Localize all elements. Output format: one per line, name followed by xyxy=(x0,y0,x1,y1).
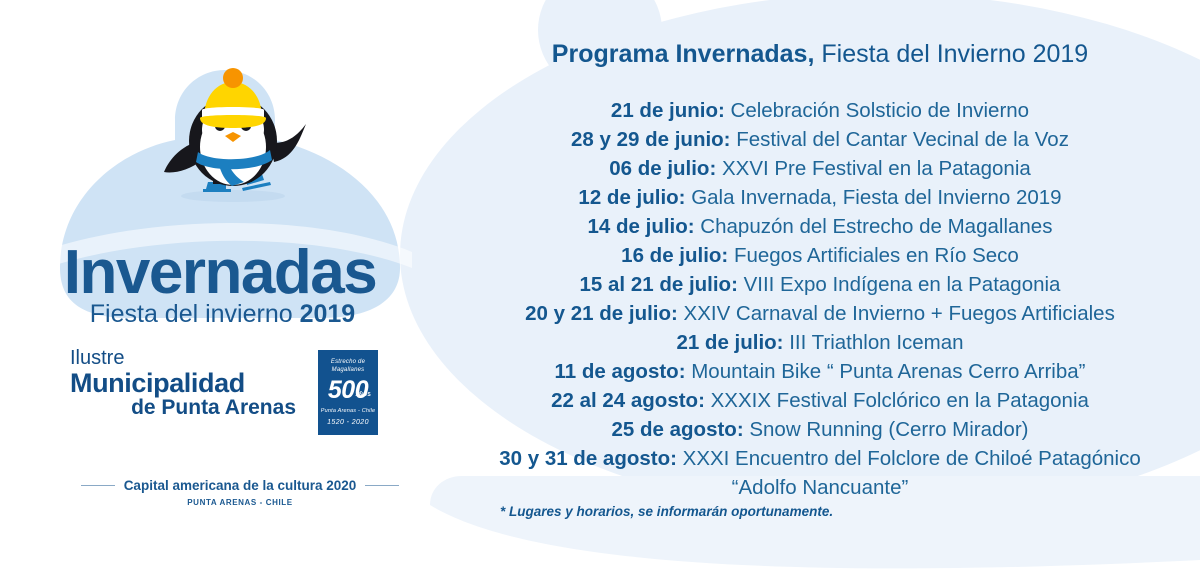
capital-row: Capital americana de la cultura 2020 xyxy=(95,478,385,493)
program-item: 14 de julio: Chapuzón del Estrecho de Ma… xyxy=(470,212,1170,241)
badge-number: 500 xyxy=(328,376,368,404)
brand-subtitle-year: 2019 xyxy=(300,300,356,328)
program-item-date: 06 de julio: xyxy=(609,157,716,180)
program-item: 15 al 21 de julio: VIII Expo Indígena en… xyxy=(470,270,1170,299)
program-item: 12 de julio: Gala Invernada, Fiesta del … xyxy=(470,183,1170,212)
penguin-skate-left-blade xyxy=(203,189,231,192)
program-item-event: Mountain Bike “ Punta Arenas Cerro Arrib… xyxy=(686,360,1086,383)
capital-cultura-block: Capital americana de la cultura 2020 PUN… xyxy=(95,478,385,507)
penguin-icon xyxy=(150,68,315,218)
program-item-event: Snow Running (Cerro Mirador) xyxy=(744,418,1029,441)
brand-logo-block: Invernadas Fiesta del invierno 2019 xyxy=(0,40,470,340)
program-title-rest: Fiesta del Invierno 2019 xyxy=(814,40,1088,68)
penguin-pompom xyxy=(223,68,243,88)
program-item: 21 de junio: Celebración Solsticio de In… xyxy=(470,96,1170,125)
program-item: 25 de agosto: Snow Running (Cerro Mirado… xyxy=(470,415,1170,444)
program-item-event: III Triathlon Iceman xyxy=(784,331,964,354)
capital-main: Capital americana de la cultura 2020 xyxy=(124,478,357,493)
penguin-shadow xyxy=(181,190,285,202)
badge-anos-label: AÑOS xyxy=(355,393,371,398)
program-item-date: 30 y 31 de agosto: xyxy=(499,447,677,470)
program-list: 21 de junio: Celebración Solsticio de In… xyxy=(470,96,1170,502)
program-item: 16 de julio: Fuegos Artificiales en Río … xyxy=(470,241,1170,270)
program-item-date: 16 de julio: xyxy=(621,244,728,267)
badge-top-line: Estrecho de Magallanes xyxy=(318,359,378,374)
badge-top-line1: Estrecho de xyxy=(318,359,378,367)
program-item-event: XXXI Encuentro del Folclore de Chiloé Pa… xyxy=(677,447,1141,470)
program-item-date: 21 de julio: xyxy=(676,331,783,354)
program-item-date: 12 de julio: xyxy=(578,186,685,209)
badge-number-wrap: 500 AÑOS xyxy=(318,378,378,403)
program-item-date: 11 de agosto: xyxy=(555,360,686,383)
program-item-date: 21 de junio: xyxy=(611,99,725,122)
program-item-event: XXVI Pre Festival en la Patagonia xyxy=(716,157,1031,180)
badge-year-range: 1520 - 2020 xyxy=(318,419,378,426)
program-item: 21 de julio: III Triathlon Iceman xyxy=(470,328,1170,357)
program-item-event: VIII Expo Indígena en la Patagonia xyxy=(738,273,1061,296)
program-item-date: 20 y 21 de julio: xyxy=(525,302,678,325)
capital-sub: PUNTA ARENAS - CHILE xyxy=(95,498,385,507)
program-item-event: Fuegos Artificiales en Río Seco xyxy=(728,244,1019,267)
program-item: 20 y 21 de julio: XXIV Carnaval de Invie… xyxy=(470,299,1170,328)
municipality-lockup: Ilustre Municipalidad de Punta Arenas xyxy=(70,348,300,419)
program-item-date: 22 al 24 agosto: xyxy=(551,389,705,412)
program-item-event: Celebración Solsticio de Invierno xyxy=(725,99,1029,122)
program-note: * Lugares y horarios, se informarán opor… xyxy=(500,504,833,519)
brand-subtitle-text: Fiesta del invierno xyxy=(90,300,300,328)
program-title-bold: Programa Invernadas, xyxy=(552,40,815,68)
rule-left xyxy=(81,485,115,486)
program-item-date: 15 al 21 de julio: xyxy=(580,273,738,296)
program-item: 22 al 24 agosto: XXXIX Festival Folclóri… xyxy=(470,386,1170,415)
program-item-date: 25 de agosto: xyxy=(612,418,744,441)
municipality-line2: Municipalidad xyxy=(70,369,300,397)
program-item-event: Chapuzón del Estrecho de Magallanes xyxy=(695,215,1053,238)
municipality-line1: Ilustre xyxy=(70,348,300,369)
municipality-line3: de Punta Arenas xyxy=(70,397,300,419)
program-item-date: 14 de julio: xyxy=(588,215,695,238)
brand-subtitle: Fiesta del invierno 2019 xyxy=(0,302,445,327)
rule-right xyxy=(365,485,399,486)
program-panel: Programa Invernadas, Fiesta del Invierno… xyxy=(470,34,1200,554)
program-title: Programa Invernadas, Fiesta del Invierno… xyxy=(470,40,1170,69)
program-item: 30 y 31 de agosto: XXXI Encuentro del Fo… xyxy=(470,444,1170,473)
program-item: 11 de agosto: Mountain Bike “ Punta Aren… xyxy=(470,357,1170,386)
program-item-event: Festival del Cantar Vecinal de la Voz xyxy=(731,128,1069,151)
brand-title: Invernadas xyxy=(0,242,440,304)
badge-top-line2: Magallanes xyxy=(318,367,378,375)
program-item-date: 28 y 29 de junio: xyxy=(571,128,731,151)
program-item: 28 y 29 de junio: Festival del Cantar Ve… xyxy=(470,125,1170,154)
program-item-event: XXXIX Festival Folclórico en la Patagoni… xyxy=(705,389,1089,412)
badge-city: Punta Arenas - Chile xyxy=(318,408,378,414)
program-item-event: Gala Invernada, Fiesta del Invierno 2019 xyxy=(686,186,1062,209)
500-years-badge: Estrecho de Magallanes 500 AÑOS Punta Ar… xyxy=(318,350,378,435)
program-item-continuation: “Adolfo Nancuante” xyxy=(470,473,1170,502)
program-item: 06 de julio: XXVI Pre Festival en la Pat… xyxy=(470,154,1170,183)
poster-canvas: Invernadas Fiesta del invierno 2019 Ilus… xyxy=(0,0,1200,582)
program-item-event: XXIV Carnaval de Invierno + Fuegos Artif… xyxy=(678,302,1115,325)
